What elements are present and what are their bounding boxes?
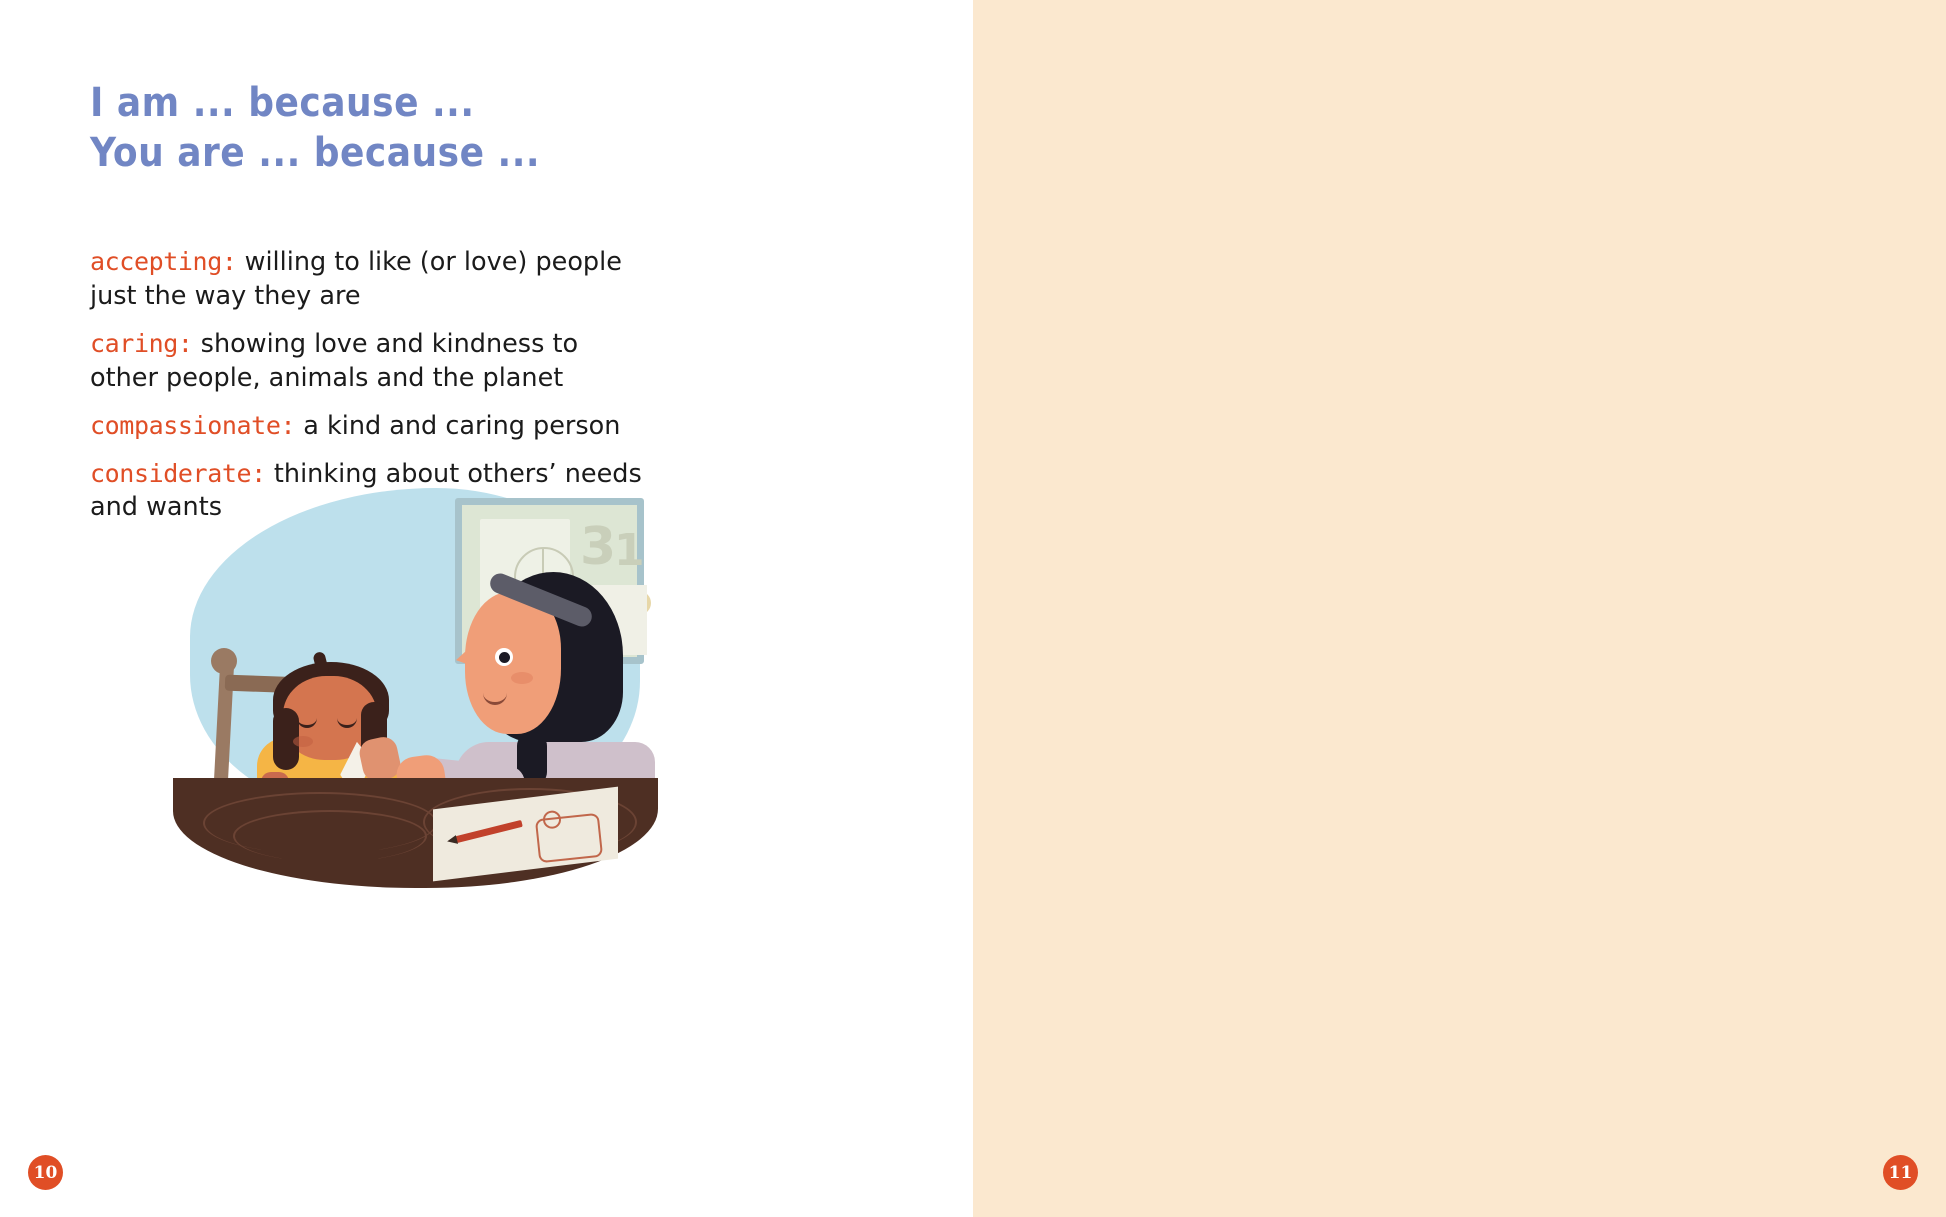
- page-title-line-2: You are ... because ...: [90, 128, 540, 178]
- glossary-term: accepting:: [90, 247, 237, 276]
- right-page: ✳ ✳ ✳ empathetic: tries to unders: [973, 0, 1946, 1217]
- glossary-term: compassionate:: [90, 411, 295, 440]
- teacher-pupil: [499, 652, 510, 663]
- child-cheek: [293, 736, 313, 747]
- desk-grain: [233, 810, 427, 862]
- glossary-definition: a kind and caring person: [295, 411, 620, 441]
- page-title: I am ... because ... You are ... because…: [90, 78, 540, 178]
- glossary-entry: caring: showing love and kindness to oth…: [90, 327, 650, 396]
- glossary-entry: accepting: willing to like (or love) peo…: [90, 245, 650, 314]
- wall-number-one: 1: [614, 525, 645, 576]
- teacher-cheek: [511, 672, 533, 684]
- page-title-line-1: I am ... because ...: [90, 78, 540, 128]
- page-number-badge: 11: [1883, 1155, 1918, 1190]
- classroom-illustration: 3 1 2: [165, 480, 665, 880]
- child-drawing: [535, 813, 603, 863]
- glossary-term: caring:: [90, 329, 193, 358]
- wall-number-three: 3: [580, 517, 616, 577]
- left-page: I am ... because ... You are ... because…: [0, 0, 973, 1217]
- page-number-badge: 10: [28, 1155, 63, 1190]
- book-spread: I am ... because ... You are ... because…: [0, 0, 1946, 1217]
- glossary-entry: compassionate: a kind and caring person: [90, 409, 650, 444]
